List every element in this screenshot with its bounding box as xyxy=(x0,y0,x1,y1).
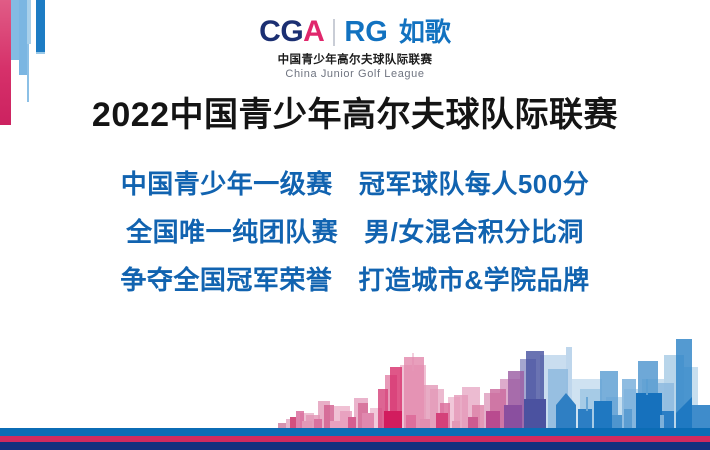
feature-line: 中国青少年一级赛 冠军球队每人500分 xyxy=(0,160,710,208)
feature-line-right: 男/女混合积分比洞 xyxy=(364,208,584,256)
bottom-color-bars xyxy=(0,428,710,450)
cga-prefix-text: CG xyxy=(259,15,303,48)
logo-divider xyxy=(333,19,335,46)
rg-wordmark: RG xyxy=(344,18,388,47)
cga-accent-letter: A xyxy=(303,15,324,48)
poster-canvas: CGA RG 如歌 中国青少年高尔夫球队际联赛 China Junior Gol… xyxy=(0,0,710,450)
bottom-bar-navy xyxy=(0,442,710,450)
cga-wordmark: CGA xyxy=(259,17,324,47)
city-skyline-illustration xyxy=(0,293,710,428)
logo-chinese-name: 中国青少年高尔夫球队际联赛 xyxy=(0,51,710,67)
feature-line-right: 冠军球队每人500分 xyxy=(359,160,589,208)
bottom-bar-blue xyxy=(0,428,710,436)
feature-line-left: 中国青少年一级赛 xyxy=(121,160,333,208)
feature-line: 全国唯一纯团队赛 男/女混合积分比洞 xyxy=(0,208,710,256)
feature-lines: 中国青少年一级赛 冠军球队每人500分 全国唯一纯团队赛 男/女混合积分比洞 争… xyxy=(0,160,710,304)
feature-line-left: 全国唯一纯团队赛 xyxy=(126,208,338,256)
logo-wordmark-row: CGA RG 如歌 xyxy=(0,17,710,47)
rugo-chinese-wordmark: 如歌 xyxy=(399,19,451,45)
page-title: 2022中国青少年高尔夫球队际联赛 xyxy=(0,95,710,136)
logo-english-name: China Junior Golf League xyxy=(0,68,710,80)
logo-lockup: CGA RG 如歌 中国青少年高尔夫球队际联赛 China Junior Gol… xyxy=(0,17,710,80)
